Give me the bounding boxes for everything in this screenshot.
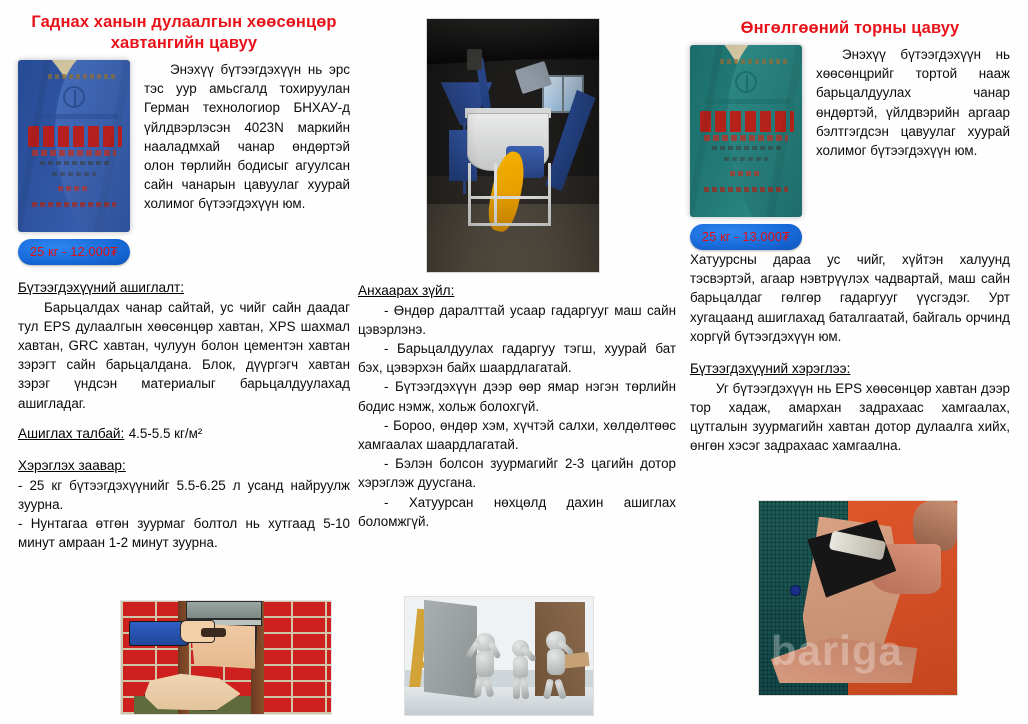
left-instruction-item: - 25 кг бүтээгдэхүүнийг 5.5-6.25 л усанд… [18, 476, 350, 514]
note-item: - Хатуурсан нөхцөлд дахин ашиглах боломж… [358, 493, 676, 531]
right-price-badge: 25 кг - 13.000₮ [690, 224, 802, 250]
worker-applying-mesh-photo: bariga [758, 500, 958, 696]
factory-mixing-machine-photo [426, 18, 600, 273]
brochure-page: Гаднах ханын дулаалгын хөөсөнцөр хавтанг… [0, 0, 1028, 724]
note-item: - Бороо, өндөр хэм, хүчтэй салхи, хөлдөл… [358, 416, 676, 454]
note-item: - Бэлэн болсон зуурмагийг 2-3 цагийн дот… [358, 454, 676, 492]
product-bag-blue-image [18, 60, 130, 232]
left-price-badge: 25 кг - 12.000₮ [18, 239, 130, 265]
note-item: - Барьцалдуулах гадаргуу тэгш, хуурай ба… [358, 339, 676, 377]
left-usage-heading: Бүтээгдэхүүний ашиглалт: [18, 278, 184, 298]
left-instructions-heading: Хэрэглэх заавар: [18, 456, 126, 476]
note-item: - Бүтээгдэхүүн дээр өөр ямар нэгэн төрли… [358, 377, 676, 415]
left-coverage-label: Ашиглах талбай: [18, 424, 124, 444]
3d-workers-installing-panels-photo [404, 596, 594, 716]
right-intro-text-part2: Хатуурсны дараа ус чийг, хүйтэн халуунд … [690, 250, 1010, 346]
blue-marker-dot-icon [791, 586, 800, 595]
left-product-intro: 25 кг - 12.000₮ Энэхүү бүтээгдэхүүн нь э… [18, 60, 350, 250]
right-application-section: Бүтээгдэхүүний хэрэглээ: Уг бүтээгдэхүүн… [690, 359, 1010, 455]
right-product-intro: 25 кг - 13.000₮ Энэхүү бүтээгдэхүүн нь х… [690, 45, 1010, 235]
left-usage-text: Барьцалдах чанар сайтай, ус чийг сайн да… [18, 298, 350, 413]
product-bag-teal-image [690, 45, 802, 217]
left-bag-block: 25 кг - 12.000₮ [18, 60, 134, 265]
left-usage-section: Бүтээгдэхүүний ашиглалт: Барьцалдах чана… [18, 278, 350, 413]
right-application-text: Уг бүтээгдэхүүн нь EPS хөөсөнцөр хавтан … [690, 379, 1010, 456]
left-coverage-value: 4.5-5.5 кг/м² [129, 426, 203, 441]
left-instructions-section: Хэрэглэх заавар: - 25 кг бүтээгдэхүүнийг… [18, 456, 350, 552]
brick-wall-illustration [120, 600, 332, 715]
notes-heading: Анхаарах зүйл: [358, 281, 454, 301]
right-application-heading: Бүтээгдэхүүний хэрэглээ: [690, 359, 850, 379]
left-instruction-item: - Нунтагаа өтгөн зуурмаг болтол нь хутга… [18, 514, 350, 552]
right-bag-block: 25 кг - 13.000₮ [690, 45, 806, 250]
note-item: - Өндөр даралттай усаар гадаргууг маш са… [358, 301, 676, 339]
right-product-title: Өнгөлгөөний торны цавуу [690, 0, 1010, 39]
notes-section: Анхаарах зүйл: - Өндөр даралттай усаар г… [358, 281, 676, 531]
left-product-title: Гаднах ханын дулаалгын хөөсөнцөр хавтанг… [18, 0, 350, 54]
left-coverage-section: Ашиглах талбай: 4.5-5.5 кг/м² [18, 424, 350, 444]
